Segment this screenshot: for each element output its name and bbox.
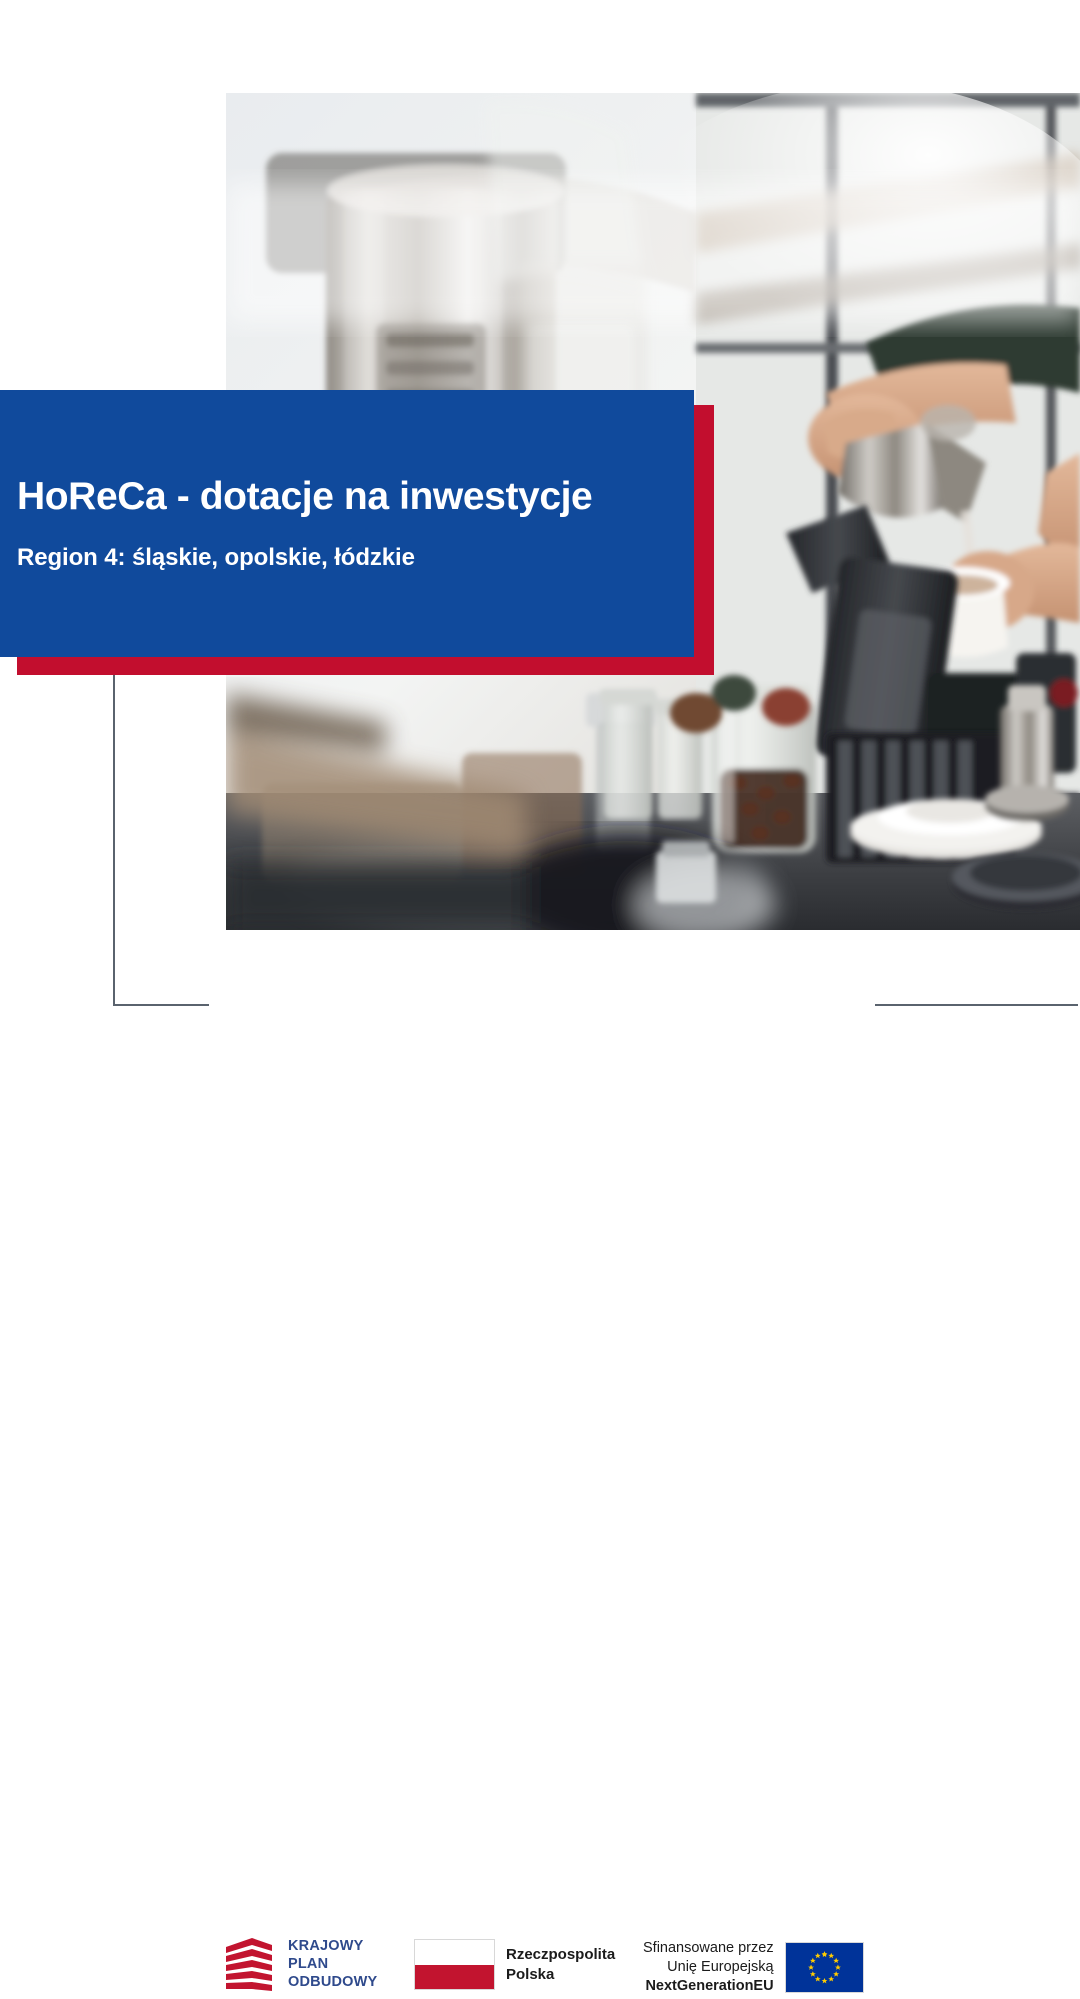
page-subtitle: Region 4: śląskie, opolskie, łódzkie [17, 544, 677, 572]
poland-line-1: Rzeczpospolita [506, 1945, 615, 1964]
eu-logo: Sfinansowane przez Unię Europejską NextG… [643, 1939, 864, 1996]
eu-flag-icon [785, 1942, 864, 1993]
kpo-logo: KRAJOWY PLAN ODBUDOWY [222, 1936, 377, 1994]
eu-line-2: Unię Europejską [643, 1958, 774, 1977]
kpo-line-2: PLAN [288, 1956, 377, 1974]
eu-logo-text: Sfinansowane przez Unię Europejską NextG… [643, 1939, 774, 1996]
eu-line-3: NextGenerationEU [643, 1977, 774, 1996]
poland-logo-text: Rzeczpospolita Polska [506, 1945, 615, 1983]
banner-blue-panel: HoReCa - dotacje na inwestycje Region 4:… [0, 390, 694, 657]
flag-stripe-white [415, 1940, 494, 1965]
poland-logo: Rzeczpospolita Polska [414, 1939, 615, 1990]
page-title: HoReCa - dotacje na inwestycje [17, 476, 677, 518]
kpo-building-icon [222, 1936, 276, 1994]
eu-line-1: Sfinansowane przez [643, 1939, 774, 1958]
banner-text-group: HoReCa - dotacje na inwestycje Region 4:… [17, 390, 677, 657]
kpo-building-icon-svg [222, 1936, 276, 1994]
kpo-logo-text: KRAJOWY PLAN ODBUDOWY [288, 1938, 377, 1991]
kpo-line-3: ODBUDOWY [288, 1974, 377, 1992]
poland-line-2: Polska [506, 1965, 615, 1984]
poland-flag-icon [414, 1939, 495, 1990]
eu-flag-icon-svg [786, 1943, 863, 1992]
footer-logo-bar: KRAJOWY PLAN ODBUDOWY Rzeczpospolita Pol… [0, 960, 1080, 1060]
decorative-corner-line-left [113, 675, 209, 1006]
flag-stripe-red [415, 1965, 494, 1990]
kpo-line-1: KRAJOWY [288, 1938, 377, 1956]
